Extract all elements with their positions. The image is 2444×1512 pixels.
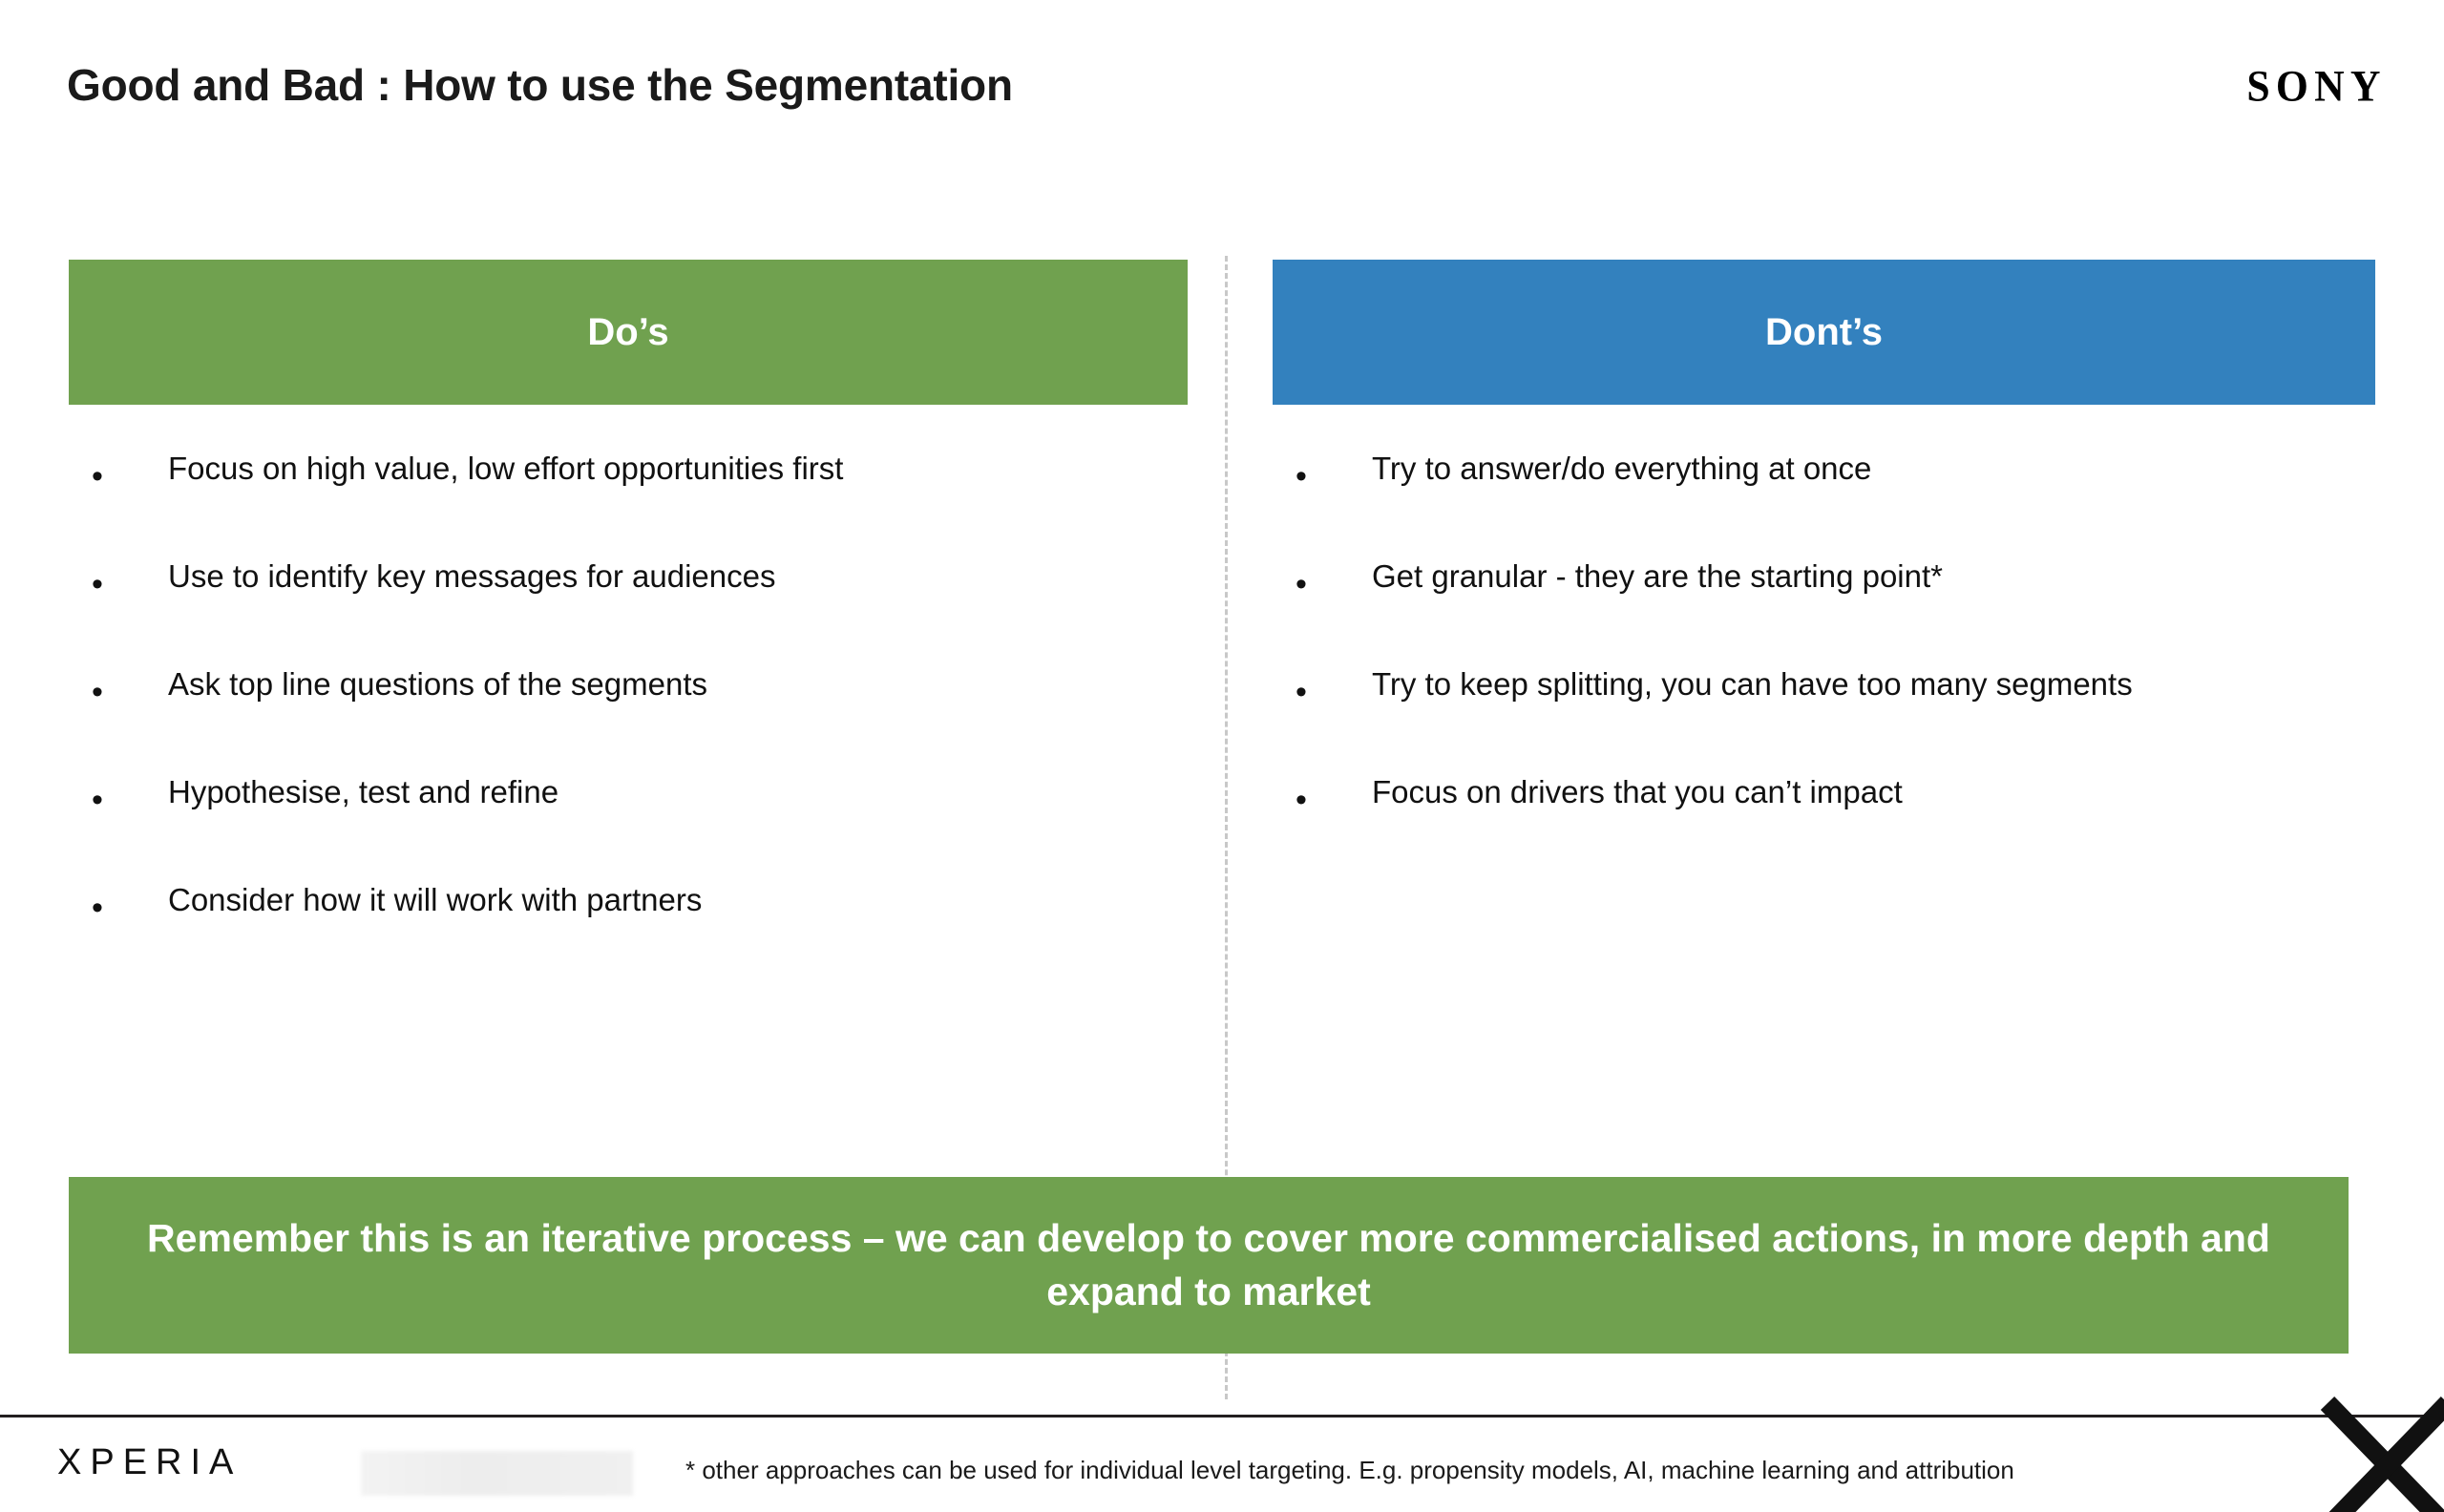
list-item-label: Ask top line questions of the segments — [168, 666, 707, 703]
callout-banner: Remember this is an iterative process – … — [69, 1177, 2349, 1354]
bullet-dot-icon: • — [1296, 568, 1311, 600]
list-item: • Use to identify key messages for audie… — [69, 558, 1195, 666]
bullet-dot-icon: • — [92, 568, 107, 600]
list-item-label: Use to identify key messages for audienc… — [168, 558, 776, 595]
list-item: • Hypothesise, test and refine — [69, 774, 1195, 882]
bullet-dot-icon: • — [92, 784, 107, 816]
dos-column-header: Do’s — [69, 260, 1188, 405]
callout-text: Remember this is an iterative process – … — [94, 1212, 2324, 1318]
bullet-dot-icon: • — [92, 676, 107, 708]
bullet-dot-icon: • — [1296, 460, 1311, 493]
sony-logo: SONY — [2247, 61, 2387, 113]
x-mark-icon — [2316, 1394, 2444, 1512]
list-item-label: Focus on high value, low effort opportun… — [168, 451, 843, 487]
slide-canvas: Good and Bad : How to use the Segmentati… — [0, 0, 2444, 1512]
donts-column-header: Dont’s — [1273, 260, 2375, 405]
page-title: Good and Bad : How to use the Segmentati… — [67, 59, 1013, 111]
dos-header-label: Do’s — [587, 311, 668, 354]
list-item: • Try to answer/do everything at once — [1273, 451, 2380, 558]
list-item: • Focus on high value, low effort opport… — [69, 451, 1195, 558]
footer-divider — [0, 1415, 2444, 1417]
list-item: • Focus on drivers that you can’t impact — [1273, 774, 2380, 882]
list-item-label: Consider how it will work with partners — [168, 882, 702, 918]
bullet-dot-icon: • — [1296, 784, 1311, 816]
donts-bullet-list: • Try to answer/do everything at once • … — [1273, 451, 2380, 882]
bullet-dot-icon: • — [92, 460, 107, 493]
xperia-logo: XPERIA — [57, 1442, 242, 1483]
bullet-dot-icon: • — [92, 892, 107, 924]
list-item-label: Try to answer/do everything at once — [1372, 451, 1871, 487]
list-item-label: Try to keep splitting, you can have too … — [1372, 666, 2133, 703]
footnote-text: * other approaches can be used for indiv… — [685, 1456, 2014, 1485]
bullet-dot-icon: • — [1296, 676, 1311, 708]
list-item-label: Focus on drivers that you can’t impact — [1372, 774, 1903, 810]
list-item: • Consider how it will work with partner… — [69, 882, 1195, 990]
redacted-logo-placeholder — [361, 1451, 633, 1496]
dos-bullet-list: • Focus on high value, low effort opport… — [69, 451, 1195, 990]
list-item: • Try to keep splitting, you can have to… — [1273, 666, 2380, 774]
list-item: • Get granular - they are the starting p… — [1273, 558, 2380, 666]
list-item-label: Hypothesise, test and refine — [168, 774, 558, 810]
list-item-label: Get granular - they are the starting poi… — [1372, 558, 1943, 595]
donts-header-label: Dont’s — [1765, 311, 1883, 354]
list-item: • Ask top line questions of the segments — [69, 666, 1195, 774]
